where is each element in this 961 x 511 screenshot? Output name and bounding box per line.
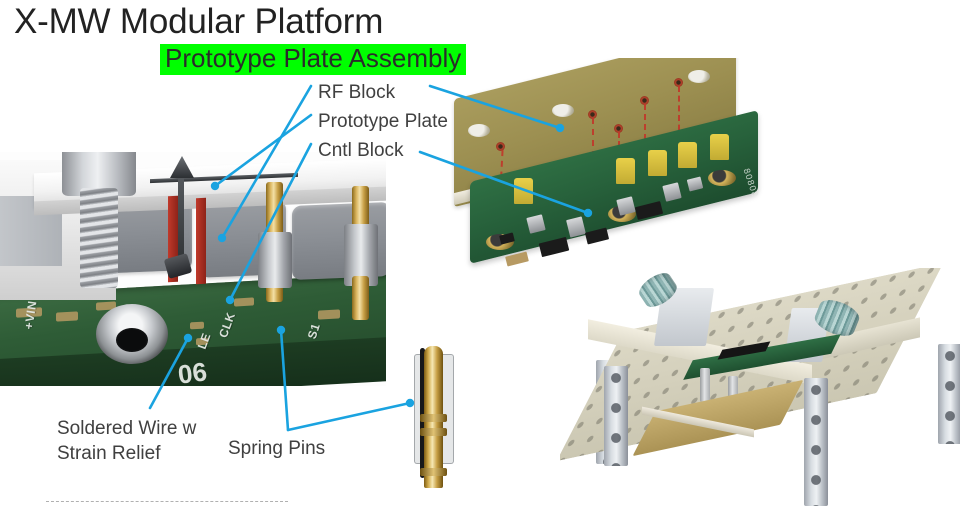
subtitle-container: Prototype Plate Assembly [160,44,466,75]
page-subtitle: Prototype Plate Assembly [160,44,466,75]
soldered-wire [178,164,184,268]
page-title: X-MW Modular Platform [14,2,383,42]
contact-post [710,134,729,160]
plate-via [496,142,505,151]
callout-soldered-wire: Soldered Wire w Strain Relief [57,416,196,466]
plate-mount-hole [468,124,490,137]
callout-rf-block: RF Block [318,82,395,104]
callout-prototype-plate: Prototype Plate [318,111,448,133]
pcb-pad [318,309,340,319]
platform-leg-front [804,378,828,506]
contact-post [514,178,533,204]
pin-crimp-ring [420,414,447,422]
slide-canvas: X-MW Modular Platform Prototype Plate As… [0,0,961,511]
callout-spring-pins: Spring Pins [228,438,325,460]
cross-section-figure: +VIN CLK LE S1 06 [0,152,386,386]
contact-post [616,158,635,184]
board-mount-hole [708,170,736,186]
silkscreen-06: 06 [176,356,208,386]
spring-pin-gold [352,276,369,320]
callout-cntl-block: Cntl Block [318,140,404,162]
platform-leg-right [938,344,960,444]
bottom-divider [46,501,288,502]
callout-soldered-wire-line1: Soldered Wire w [57,416,196,441]
plate-mount-hole [688,70,710,83]
platform-leg-left [604,366,628,466]
red-insulator [196,198,206,284]
leg-hole-pattern [604,366,628,466]
plate-mount-hole [552,104,574,117]
leader-spring-pins-detail [288,403,410,430]
platform-figure [560,268,960,511]
leg-hole-pattern [938,344,960,444]
spring-pin-barrel [258,232,292,288]
screw-thread [80,188,118,288]
contact-post [678,142,697,168]
pcb-pad [56,311,78,321]
pcb-pad [234,297,254,306]
board-standoff [700,368,710,402]
leg-hole-pattern [804,378,828,506]
pcb-pad [190,322,204,330]
callout-soldered-wire-line2: Strain Relief [57,441,196,466]
pin-crimp-ring [420,468,447,476]
pin-crimp-ring [420,428,447,436]
spring-pin-detail-figure [398,340,470,490]
contact-post [648,150,667,176]
mounting-hole-bore [116,328,148,352]
